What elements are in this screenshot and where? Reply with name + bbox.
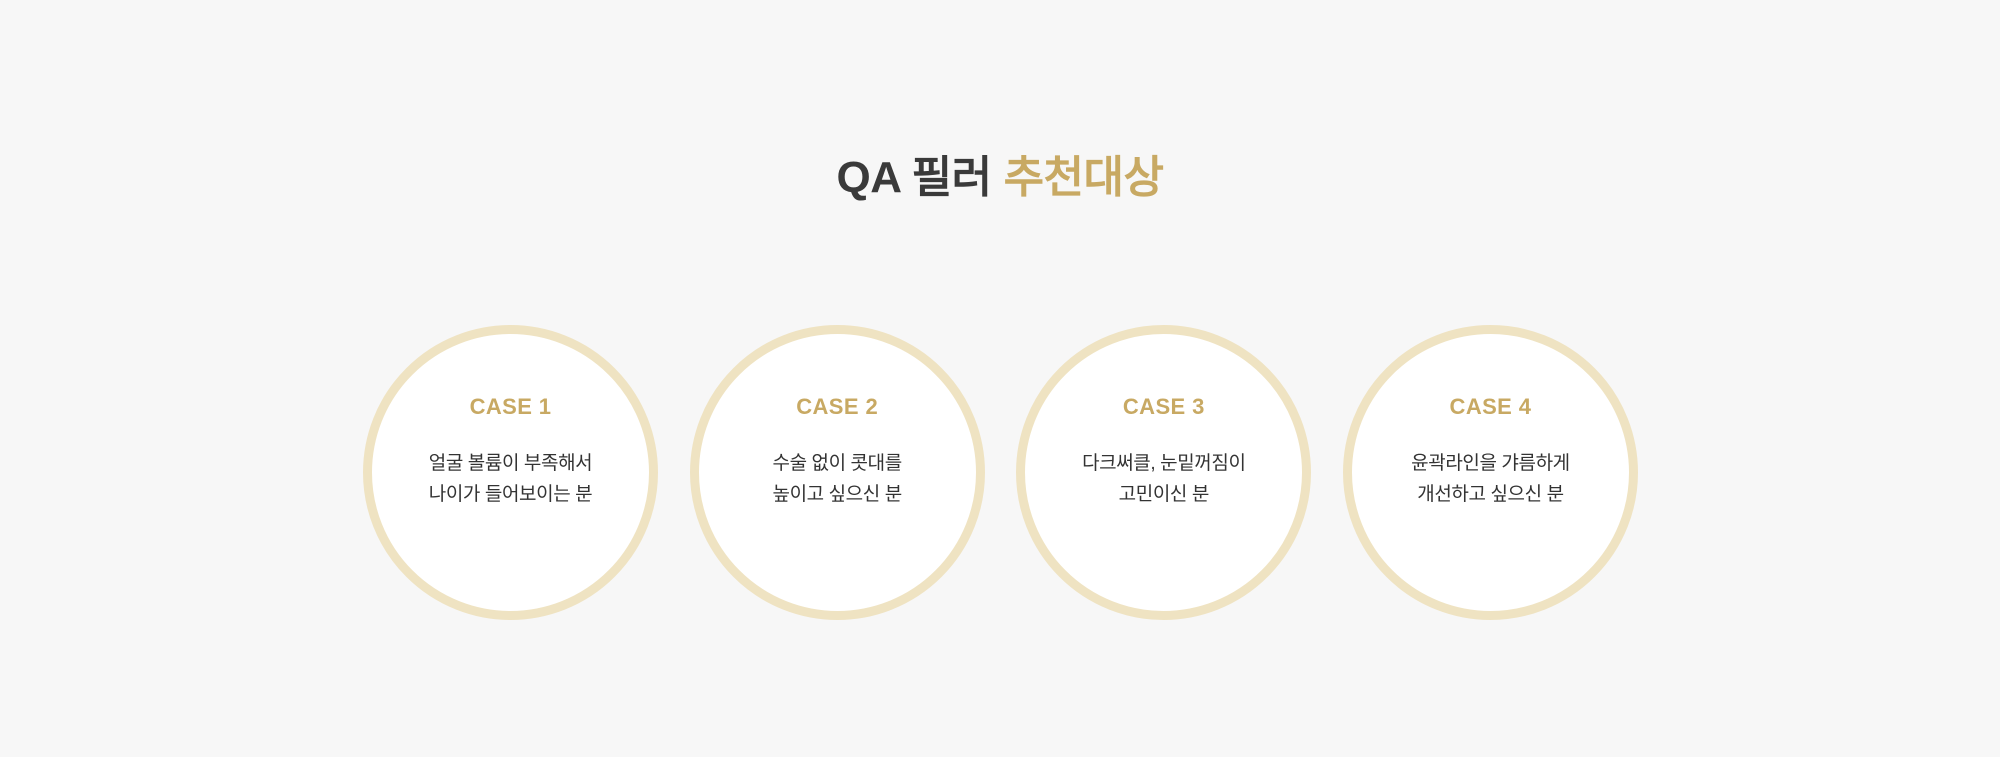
case-card-1: CASE 1 얼굴 볼륨이 부족해서 나이가 들어보이는 분 <box>363 325 658 620</box>
case-description-3-line-2: 고민이신 분 <box>1082 480 1245 511</box>
case-description-2-line-1: 수술 없이 콧대를 <box>772 449 901 480</box>
case-card-4: CASE 4 윤곽라인을 갸름하게 개선하고 싶으신 분 <box>1343 325 1638 620</box>
case-description-1-line-2: 나이가 들어보이는 분 <box>429 480 592 511</box>
case-card-2: CASE 2 수술 없이 콧대를 높이고 싶으신 분 <box>690 325 985 620</box>
case-description-3-line-1: 다크써클, 눈밑꺼짐이 <box>1082 449 1245 480</box>
case-list: CASE 1 얼굴 볼륨이 부족해서 나이가 들어보이는 분 CASE 2 수술… <box>363 325 1638 620</box>
case-description-2-line-2: 높이고 싶으신 분 <box>772 480 901 511</box>
case-label-3: CASE 3 <box>1123 396 1205 418</box>
case-card-3: CASE 3 다크써클, 눈밑꺼짐이 고민이신 분 <box>1016 325 1311 620</box>
case-label-1: CASE 1 <box>470 396 552 418</box>
case-description-4-line-1: 윤곽라인을 갸름하게 <box>1411 449 1570 480</box>
case-label-2: CASE 2 <box>796 396 878 418</box>
page-title: QA 필러추천대상 <box>0 152 2000 205</box>
case-description-1: 얼굴 볼륨이 부족해서 나이가 들어보이는 분 <box>429 449 592 511</box>
case-description-3: 다크써클, 눈밑꺼짐이 고민이신 분 <box>1082 449 1245 511</box>
page-title-primary: QA 필러 <box>837 153 992 202</box>
case-description-4: 윤곽라인을 갸름하게 개선하고 싶으신 분 <box>1411 449 1570 511</box>
case-description-4-line-2: 개선하고 싶으신 분 <box>1411 480 1570 511</box>
page-title-accent: 추천대상 <box>1004 153 1164 202</box>
case-description-1-line-1: 얼굴 볼륨이 부족해서 <box>429 449 592 480</box>
case-description-2: 수술 없이 콧대를 높이고 싶으신 분 <box>772 449 901 511</box>
case-label-4: CASE 4 <box>1450 396 1532 418</box>
promo-section: QA 필러추천대상 CASE 1 얼굴 볼륨이 부족해서 나이가 들어보이는 분… <box>0 0 2000 757</box>
